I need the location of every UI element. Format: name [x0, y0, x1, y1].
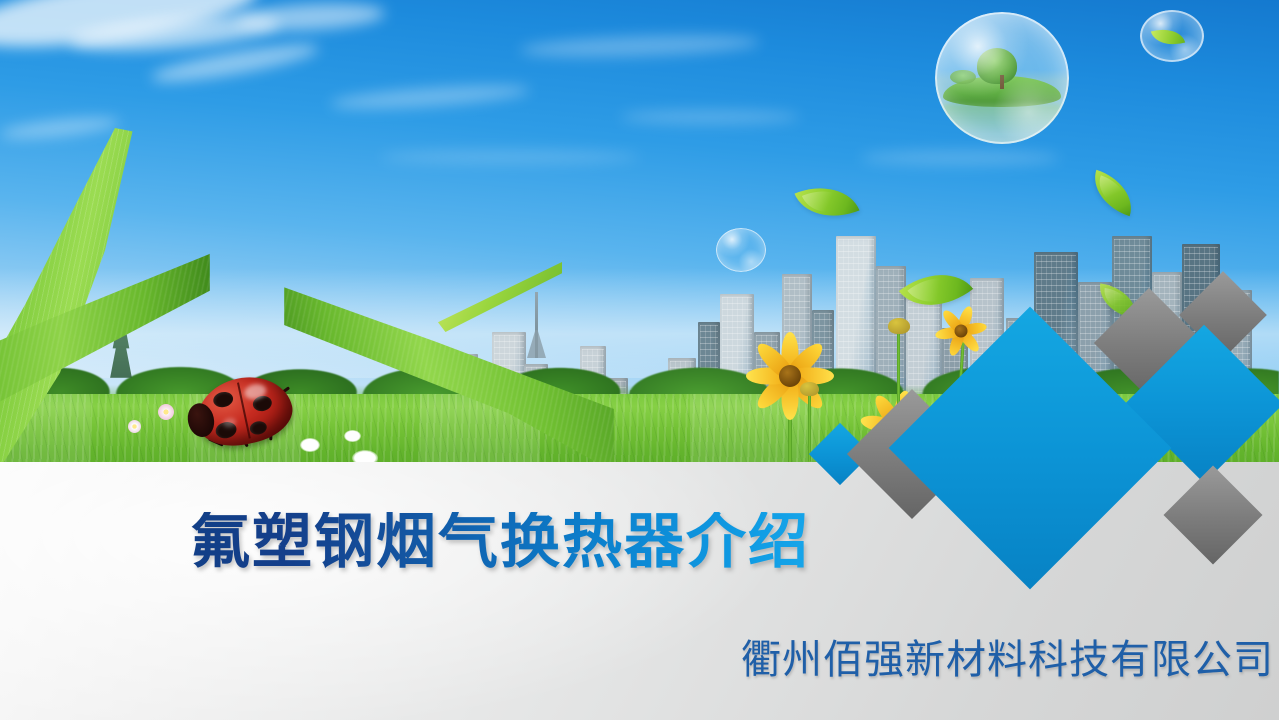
company-name: 衢州佰强新材料科技有限公司 — [741, 640, 1274, 680]
eco-bubble-small — [716, 228, 766, 272]
eco-bubble-leaf — [1140, 10, 1204, 62]
slide-title: 氟塑钢烟气换热器介绍 — [190, 512, 810, 572]
cosmos-flower-1 — [736, 322, 844, 430]
eco-bubble-tree — [935, 12, 1069, 144]
title-slide: 氟塑钢烟气换热器介绍 衢州佰强新材料科技有限公司 — [0, 0, 1279, 720]
